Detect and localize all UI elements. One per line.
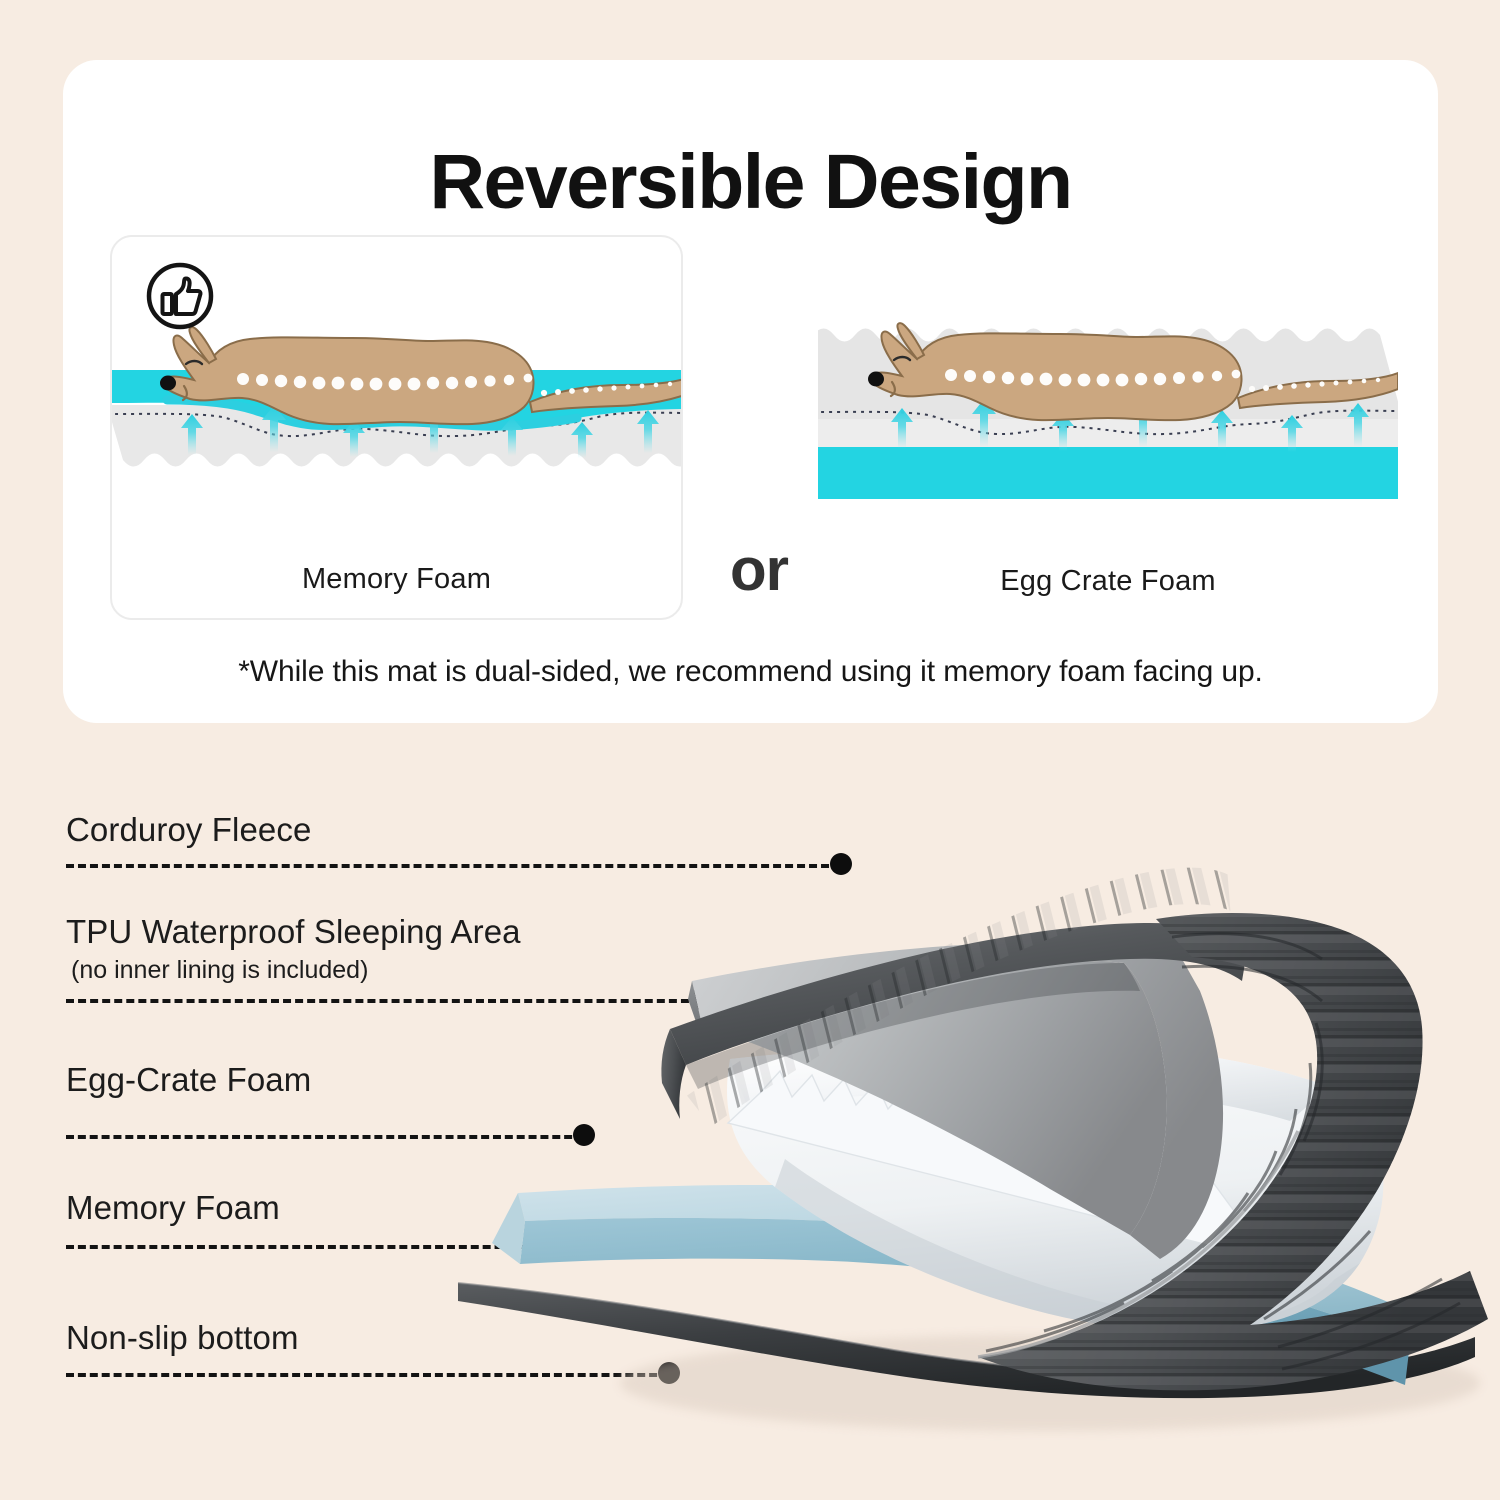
egg-crate-foam-diagram xyxy=(818,235,1398,620)
layer-breakdown-section: Corduroy Fleece TPU Waterproof Sleeping … xyxy=(0,723,1500,1500)
panel-egg-crate-foam[interactable]: Egg Crate Foam xyxy=(818,235,1398,620)
callout-non-slip-bottom: Non-slip bottom xyxy=(66,1319,299,1357)
panel-label-memory-foam: Memory Foam xyxy=(112,563,681,596)
callout-title: Corduroy Fleece xyxy=(66,811,311,849)
comparison-panels: Memory Foam xyxy=(63,235,1438,625)
callout-title: Non-slip bottom xyxy=(66,1319,299,1357)
panel-label-egg-crate-foam: Egg Crate Foam xyxy=(818,565,1398,598)
or-divider-label: or xyxy=(699,535,819,604)
product-layers-image xyxy=(430,723,1500,1500)
thumbs-up-icon xyxy=(145,261,215,331)
callout-title: Egg-Crate Foam xyxy=(66,1061,311,1099)
callout-corduroy-fleece: Corduroy Fleece xyxy=(66,811,311,849)
footnote-text: *While this mat is dual-sided, we recomm… xyxy=(63,655,1438,689)
callout-egg-crate-foam: Egg-Crate Foam xyxy=(66,1061,311,1099)
page-title: Reversible Design xyxy=(63,138,1438,227)
reversible-design-card: Reversible Design xyxy=(63,60,1438,723)
callout-title: Memory Foam xyxy=(66,1189,280,1227)
panel-memory-foam[interactable]: Memory Foam xyxy=(110,235,683,620)
callout-memory-foam: Memory Foam xyxy=(66,1189,280,1227)
